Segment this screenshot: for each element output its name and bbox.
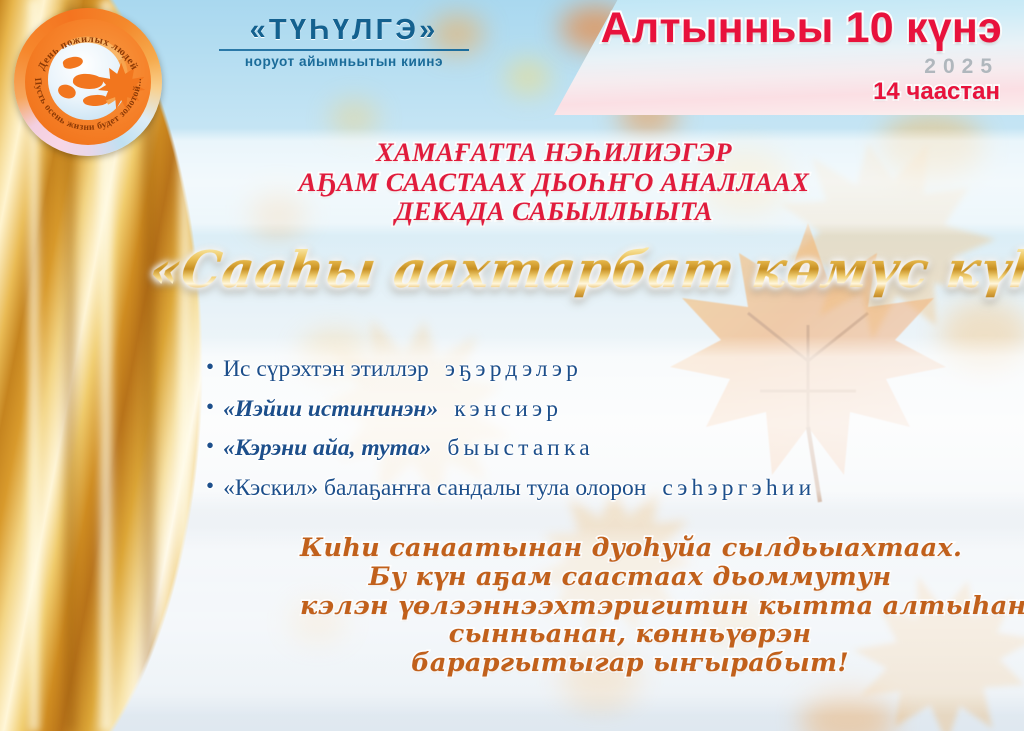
event-time: 14 чаастан xyxy=(873,78,1000,106)
divider xyxy=(219,49,469,51)
headline-line-1: ХАМАҒАТТА НЭҺИЛИЭГЭР xyxy=(196,138,912,168)
invitation-line-5: бараргытыгар ыҥырабыт! xyxy=(300,649,960,678)
list-item-quoted-title: «Кэрэни айа, тута» xyxy=(223,435,431,462)
event-year: 2025 xyxy=(924,55,999,79)
svg-text:Пусть осень жизни будет золото: Пусть осень жизни будет золотой... xyxy=(32,77,144,133)
page-title: ХАМАҒАТТА НЭҺИЛИЭГЭР АҔАМ СААСТААХ ДЬОҺҤ… xyxy=(196,138,912,227)
headline-line-2: АҔАМ СААСТААХ ДЬОҺҤО АНАЛЛААХ xyxy=(196,168,912,198)
list-item-text: «Кэскил» балаҕаҥҥа сандалы тула олорон xyxy=(223,475,646,502)
headline-line-3: ДЕКАДА САБЫЛЛЫЫТА xyxy=(196,197,912,227)
emblem-arc-bottom-text: Пусть осень жизни будет золотой... xyxy=(32,77,144,133)
invitation-line-1: Киһи санаатынан дуоһуйа сылдьыахтаах. xyxy=(300,534,960,563)
list-item-quoted-title: «Иэйии истиҥинэн» xyxy=(223,396,438,423)
bullet-icon: • xyxy=(206,355,214,378)
invitation-text: Киһи санаатынан дуоһуйа сылдьыахтаах. Бу… xyxy=(300,534,960,678)
brand-name: «ТҮҺҮЛГЭ» xyxy=(219,16,469,45)
event-slogan: «Сааһы аахтарбат көмүс күһүн» xyxy=(146,240,1024,299)
brand-tagline: норуот айымньытын киинэ xyxy=(219,54,469,69)
list-item: • Ис сүрэхтэн этиллэр эҕэрдэлэр xyxy=(206,356,1024,383)
list-item-emphasis: быыстапка xyxy=(447,435,594,462)
list-item: • «Кэрэни айа, тута» быыстапка xyxy=(206,435,1024,462)
brand-wordmark: «ТҮҺҮЛГЭ» норуот айымньытын киинэ xyxy=(219,16,469,69)
list-item: • «Кэскил» балаҕаҥҥа сандалы тула олорон… xyxy=(206,475,1024,502)
list-item-emphasis: кэнсиэр xyxy=(454,396,562,423)
list-item-text: Ис сүрэхтэн этиллэр xyxy=(223,356,429,383)
event-date-heading: Алтынньы 10 күнэ xyxy=(601,6,1002,51)
bokeh-blob xyxy=(506,60,550,94)
bullet-icon: • xyxy=(206,395,214,418)
invitation-line-3: кэлэн үөлээннээхтэригитин кытта алтыһан, xyxy=(300,592,960,621)
list-item-emphasis: сэһэргэһии xyxy=(662,475,815,502)
list-item: • «Иэйии истиҥинэн» кэнсиэр xyxy=(206,396,1024,423)
poster-canvas: День пожилых людей Пусть осень жизни буд… xyxy=(0,0,1024,731)
emblem-arc-bottom: Пусть осень жизни будет золотой... xyxy=(25,19,151,145)
programme-list: • Ис сүрэхтэн этиллэр эҕэрдэлэр • «Иэйии… xyxy=(206,356,1024,514)
bullet-icon: • xyxy=(206,474,214,497)
bullet-icon: • xyxy=(206,434,214,457)
invitation-line-2: Бу күн аҕам саастаах дьоммутун xyxy=(300,563,960,592)
avatar: День пожилых людей Пусть осень жизни буд… xyxy=(14,8,162,156)
invitation-line-4: сынньанан, көнньүөрэн xyxy=(300,620,960,649)
list-item-emphasis: эҕэрдэлэр xyxy=(445,356,582,383)
emblem-ring: День пожилых людей Пусть осень жизни буд… xyxy=(25,19,151,145)
